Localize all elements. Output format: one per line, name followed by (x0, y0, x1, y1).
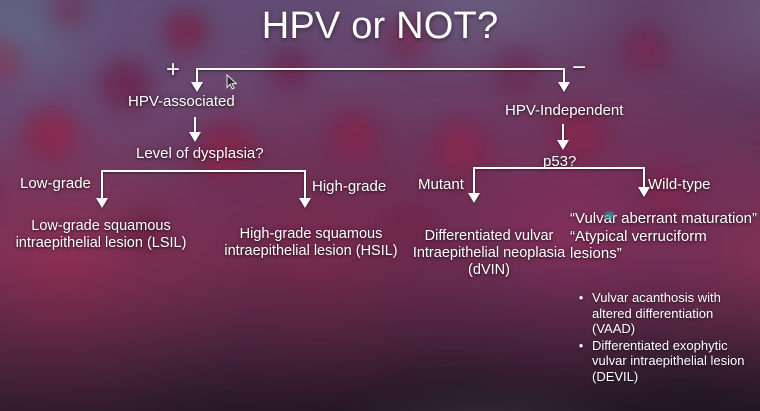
minus-sign: − (572, 54, 586, 82)
list-item: • Vulvar acanthosis with altered differe… (570, 290, 756, 337)
p53-bracket-horizontal (473, 167, 645, 169)
leaf-lsil: Low-grade squamous intraepithelial lesio… (8, 218, 194, 252)
branch-label-low-grade: Low-grade (20, 175, 91, 193)
page-title: HPV or NOT? (0, 4, 760, 49)
dysplasia-bracket-right-stem (304, 170, 306, 200)
branch-label-high-grade: High-grade (312, 178, 386, 196)
teal-artifact-speck (604, 211, 615, 220)
leaf-wild-type-terms: “Vulvar aberrant maturation” “Atypical v… (570, 210, 760, 263)
bullet-icon: • (570, 290, 592, 305)
node-level-of-dysplasia: Level of dysplasia? (136, 145, 264, 163)
list-item: • Differentiated exophytic vulvar intrae… (570, 338, 756, 385)
branch-label-mutant: Mutant (418, 176, 464, 194)
p53-bracket-left-stem (473, 167, 475, 195)
bullet-icon: • (570, 338, 592, 353)
dysplasia-bracket-horizontal (101, 170, 306, 172)
plus-sign: + (166, 56, 180, 84)
dysplasia-bracket-left-arrowhead (96, 198, 108, 208)
leaf-hsil: High-grade squamous intraepithelial lesi… (218, 226, 404, 260)
dysplasia-bracket-left-stem (101, 170, 103, 200)
node-hpv-associated: HPV-associated (128, 93, 235, 111)
top-bracket-horizontal (196, 68, 564, 70)
branch-label-wild-type: Wild-type (648, 176, 711, 194)
dysplasia-bracket-right-arrowhead (299, 198, 311, 208)
list-item-label: Vulvar acanthosis with altered different… (592, 290, 756, 337)
hpv-independent-to-p53-arrowhead (557, 140, 569, 150)
wild-type-bullet-list: • Vulvar acanthosis with altered differe… (570, 290, 756, 385)
p53-bracket-right-stem (643, 167, 645, 189)
top-bracket-right-arrowhead (558, 82, 570, 92)
leaf-dvin: Differentiated vulvar Intraepithelial ne… (404, 228, 574, 279)
list-item-label: Differentiated exophytic vulvar intraepi… (592, 338, 756, 385)
mouse-cursor-icon (226, 74, 238, 91)
top-bracket-left-arrowhead (191, 82, 203, 92)
slide-canvas: HPV or NOT? + − HPV-associated HPV-Indep… (0, 0, 760, 411)
hpv-associated-to-dysplasia-arrowhead (189, 132, 201, 142)
p53-bracket-left-arrowhead (468, 193, 480, 203)
node-hpv-independent: HPV-Independent (505, 102, 623, 120)
